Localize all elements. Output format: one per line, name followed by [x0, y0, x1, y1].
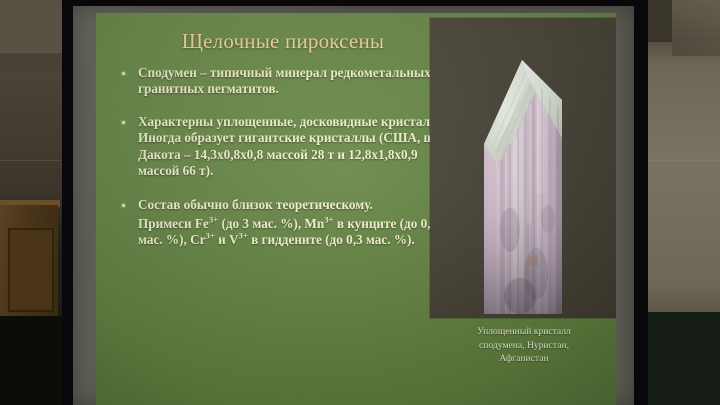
bullet-square-icon: [122, 72, 125, 75]
caption-line-3: Афганистан: [430, 352, 616, 366]
caption-line-2: сподумена, Нуристан,: [430, 339, 616, 353]
left-wall-seam-upper: [0, 52, 64, 53]
slide-body: Сподумен – типичный минерал редкометальн…: [106, 65, 452, 262]
right-wall-seam: [648, 160, 720, 161]
door-panel: [8, 228, 54, 312]
bullet-3-impurities-text: Примеси Fe3+ (до 3 мас. %), Mn3+ в кунци…: [138, 216, 452, 249]
bullet-square-icon: [122, 204, 125, 207]
bullet-text-2: Характерны уплощенные, досковидные крист…: [138, 114, 452, 180]
right-ceiling-corner: [672, 0, 720, 56]
superscript-charge: 3+: [324, 214, 333, 224]
lecture-room-scene: Щелочные пироксены Сподумен – типичный м…: [0, 0, 720, 405]
crystal-photo: [430, 18, 616, 318]
right-wainscot: [648, 312, 720, 405]
left-wall-upper-panel: [0, 0, 64, 52]
left-wall-seam-lower: [0, 160, 64, 161]
bullet-square-icon: [122, 121, 125, 124]
presentation-slide: Щелочные пироксены Сподумен – типичный м…: [96, 13, 616, 405]
bullet-text-1: Сподумен – типичный минерал редкометальн…: [138, 65, 452, 98]
list-item: Сподумен – типичный минерал редкометальн…: [106, 65, 452, 98]
photo-caption: Уплощенный кристалл сподумена, Нуристан,…: [430, 325, 616, 366]
superscript-charge: 3+: [239, 231, 248, 241]
superscript-charge: 3+: [205, 231, 214, 241]
left-floor-shadow: [0, 316, 64, 405]
list-item: Состав обычно близок теоретическому. При…: [106, 197, 452, 248]
superscript-charge: 3+: [209, 214, 218, 224]
bullet-text-3: Состав обычно близок теоретическому.: [138, 197, 452, 213]
caption-line-1: Уплощенный кристалл: [430, 325, 616, 339]
slide-title: Щелочные пироксены: [118, 29, 448, 53]
list-item: Характерны уплощенные, досковидные крист…: [106, 114, 452, 180]
spodumene-crystal-image: [476, 44, 570, 316]
